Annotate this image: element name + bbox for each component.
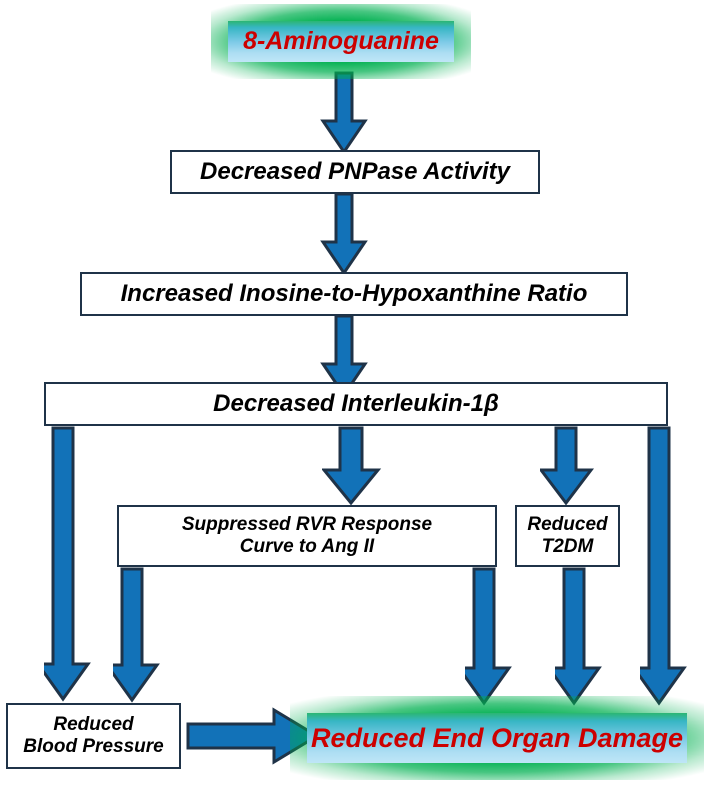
node-reduced-blood-pressure-line2: Blood Pressure: [23, 736, 163, 758]
node-aminoguanine: 8-Aminoguanine: [211, 4, 471, 79]
arrow-rvr-to-blood-pressure: [113, 567, 161, 703]
node-pnpase: Decreased PNPase Activity: [170, 150, 540, 194]
node-reduced-end-organ-damage: Reduced End Organ Damage: [290, 696, 704, 780]
node-rvr-response-line1: Suppressed RVR Response: [182, 514, 432, 536]
arrow-interleukin-to-blood-pressure: [44, 426, 92, 702]
node-pnpase-label: Decreased PNPase Activity: [200, 158, 510, 186]
node-rvr-response-line2: Curve to Ang II: [240, 536, 374, 558]
node-reduced-t2dm-line1: Reduced: [527, 514, 607, 536]
node-reduced-blood-pressure-line1: Reduced: [53, 714, 133, 736]
arrow-interleukin-to-t2dm: [540, 426, 596, 506]
node-reduced-blood-pressure: Reduced Blood Pressure: [6, 703, 181, 769]
node-reduced-end-organ-damage-label: Reduced End Organ Damage: [307, 713, 687, 763]
node-aminoguanine-label: 8-Aminoguanine: [228, 21, 454, 62]
arrow-aminoguanine-to-pnpase: [320, 71, 368, 155]
node-inosine-ratio: Increased Inosine-to-Hypoxanthine Ratio: [80, 272, 628, 316]
node-reduced-t2dm: Reduced T2DM: [515, 505, 620, 567]
arrow-t2dm-to-end-organ: [555, 567, 603, 706]
arrow-interleukin-to-rvr: [322, 426, 384, 506]
node-interleukin: Decreased Interleukin-1β: [44, 382, 668, 426]
node-interleukin-label: Decreased Interleukin-1β: [213, 390, 499, 418]
arrow-interleukin-to-end-organ-right: [640, 426, 696, 706]
node-rvr-response: Suppressed RVR Response Curve to Ang II: [117, 505, 497, 567]
arrow-rvr-to-end-organ: [465, 567, 513, 706]
node-inosine-ratio-label: Increased Inosine-to-Hypoxanthine Ratio: [121, 280, 588, 308]
flowchart-canvas: 8-Aminoguanine Decreased PNPase Activity…: [0, 0, 708, 785]
node-reduced-t2dm-line2: T2DM: [542, 536, 594, 558]
arrow-pnpase-to-inosine: [320, 192, 368, 276]
